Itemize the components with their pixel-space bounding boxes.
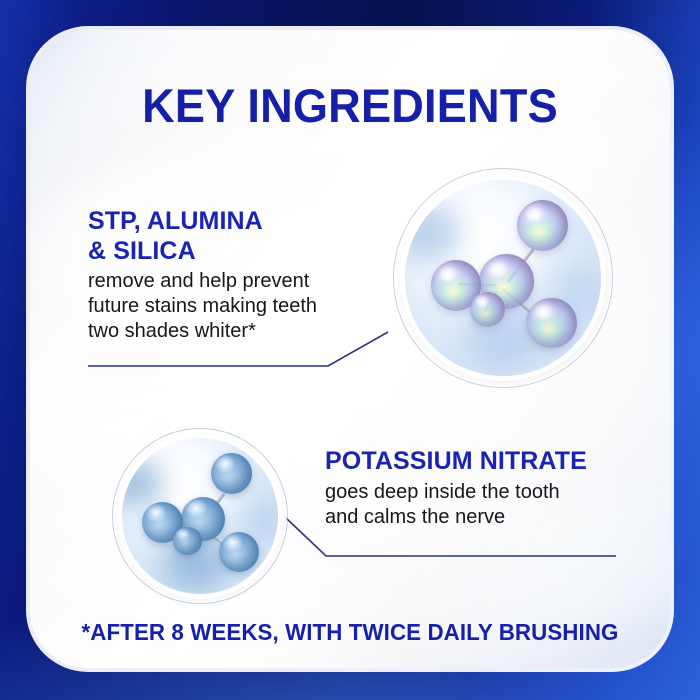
ingredient-heading: STP, ALUMINA & SILICA [88,207,388,266]
ingredient-description: goes deep inside the tooth and calms the… [325,480,635,530]
key-ingredients-poster: KEY INGREDIENTS [0,0,700,700]
molecule-ring [393,168,613,388]
ingredient-block-stp-alumina-silica: STP, ALUMINA & SILICA remove and help pr… [88,207,388,345]
molecule-ring [112,428,288,604]
molecule-pearl-icon [393,168,613,388]
ingredient-block-potassium-nitrate: POTASSIUM NITRATE goes deep inside the t… [325,447,635,530]
ingredient-description: remove and help prevent future stains ma… [88,269,388,345]
footnote-text: *AFTER 8 WEEKS, WITH TWICE DAILY BRUSHIN… [11,619,690,646]
molecule-blue-icon [112,428,288,604]
page-title: KEY INGREDIENTS [14,82,686,129]
ingredient-heading: POTASSIUM NITRATE [325,447,635,477]
